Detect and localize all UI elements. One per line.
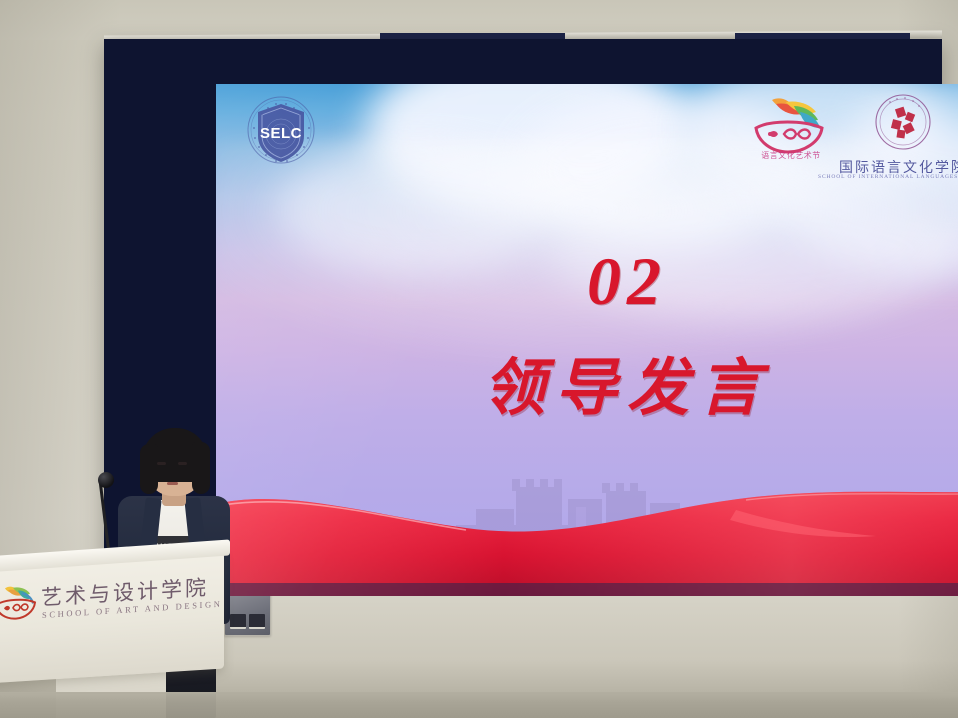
speaker-eye-right (178, 462, 187, 465)
floor (0, 692, 958, 718)
school-emblem-icon (866, 92, 940, 160)
brush-feather-icon (0, 582, 38, 629)
microphone-head-icon[interactable] (98, 472, 114, 488)
speaker-eye-left (157, 462, 166, 465)
school-crest-icon (866, 92, 940, 160)
school-name-en: SCHOOL OF INTERNATIONAL LANGUAGES AND CU… (818, 174, 958, 180)
presentation-photo: SELC (0, 0, 958, 718)
outlet-port-right (249, 614, 265, 629)
led-screen[interactable]: SELC (216, 84, 958, 596)
podium-brush-feather-logo-icon (0, 582, 38, 629)
svg-text:SELC: SELC (260, 125, 302, 142)
speaker-hair-left (140, 444, 158, 494)
selc-logo: SELC (246, 94, 316, 168)
ribbon-shape (216, 436, 958, 596)
speaker-hair-right (192, 442, 210, 494)
slide-title: 领导发言 (216, 337, 958, 427)
festival-wordmark: 语言文化艺术节 (743, 150, 839, 161)
red-silk-ribbon (216, 436, 958, 596)
selc-shield-icon: SELC (246, 94, 316, 168)
speaker-mouth (167, 482, 178, 485)
slide-section-number: 02 (216, 242, 958, 321)
